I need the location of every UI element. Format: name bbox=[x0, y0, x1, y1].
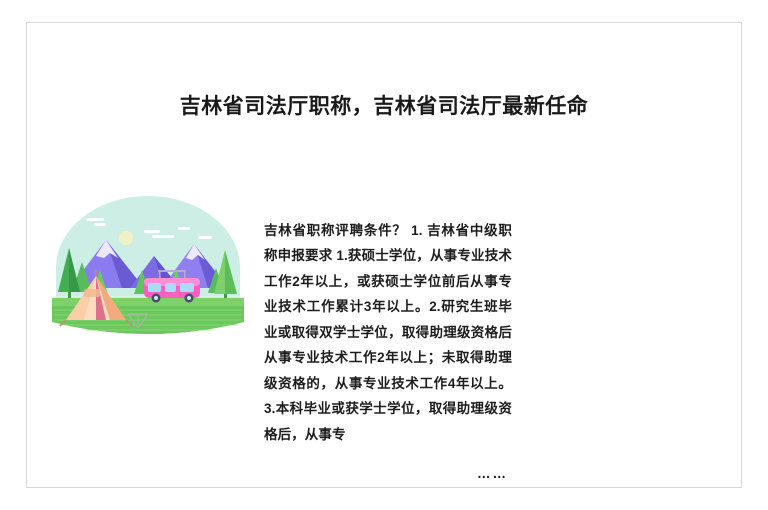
article-truncation-ellipsis: …… bbox=[264, 461, 512, 487]
article-text-block: 吉林省职称评聘条件？ 1. 吉林省中级职称申报要求 1.获硕士学位，从事专业技术… bbox=[264, 196, 512, 486]
page-title: 吉林省司法厅职称，吉林省司法厅最新任命 bbox=[0, 92, 768, 122]
article-content-row: 吉林省职称评聘条件？ 1. 吉林省中级职称申报要求 1.获硕士学位，从事专业技术… bbox=[48, 196, 720, 486]
article-body-text: 吉林省职称评聘条件？ 1. 吉林省中级职称申报要求 1.获硕士学位，从事专业技术… bbox=[264, 210, 512, 448]
camping-scene-illustration bbox=[48, 196, 248, 346]
sun-icon bbox=[119, 231, 133, 245]
article-page: 吉林省司法厅职称，吉林省司法厅最新任命 bbox=[0, 0, 768, 510]
